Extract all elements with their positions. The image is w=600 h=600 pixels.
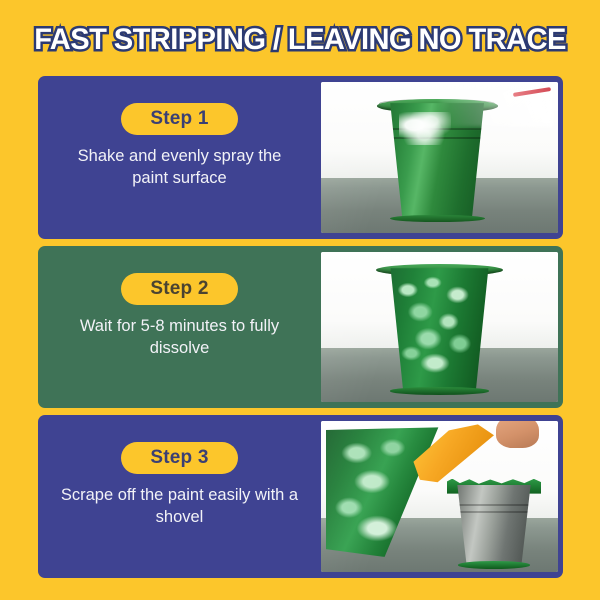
step-3-photo [321, 421, 558, 572]
step-2-badge: Step 2 [121, 273, 237, 305]
step-panel-3: Step 3 Scrape off the paint easily with … [38, 415, 563, 578]
step-1-copy: Step 1 Shake and evenly spray the paint … [38, 76, 321, 239]
hand [496, 421, 539, 448]
step-1-photo [321, 82, 558, 233]
step-panel-1: Step 1 Shake and evenly spray the paint … [38, 76, 563, 239]
poster-title: FAST STRIPPING / LEAVING NO TRACE [34, 23, 566, 57]
step-3-copy: Step 3 Scrape off the paint easily with … [38, 415, 321, 578]
step-2-photo-scene [321, 252, 558, 403]
bucket-base [390, 215, 485, 223]
bucket-base [390, 387, 490, 395]
step-panel-2: Step 2 Wait for 5-8 minutes to fully dis… [38, 246, 563, 409]
step-3-badge: Step 3 [121, 442, 237, 474]
steps-list: Step 1 Shake and evenly spray the paint … [38, 76, 563, 578]
step-3-description: Scrape off the paint easily with a shove… [60, 485, 300, 529]
step-1-photo-scene [321, 82, 558, 233]
step-1-badge: Step 1 [121, 103, 237, 135]
poster-title-bar: FAST STRIPPING / LEAVING NO TRACE [0, 18, 600, 62]
step-2-copy: Step 2 Wait for 5-8 minutes to fully dis… [38, 246, 321, 409]
infographic-poster: FAST STRIPPING / LEAVING NO TRACE Step 1… [0, 0, 600, 600]
metal-band-lower [451, 511, 536, 513]
step-1-description: Shake and evenly spray the paint surface [60, 146, 300, 190]
bucket-base [458, 561, 529, 569]
spray-mist [440, 88, 554, 127]
metal-band-upper [451, 504, 536, 506]
step-3-photo-scene [321, 421, 558, 572]
step-2-photo [321, 252, 558, 403]
step-2-description: Wait for 5-8 minutes to fully dissolve [60, 316, 300, 360]
